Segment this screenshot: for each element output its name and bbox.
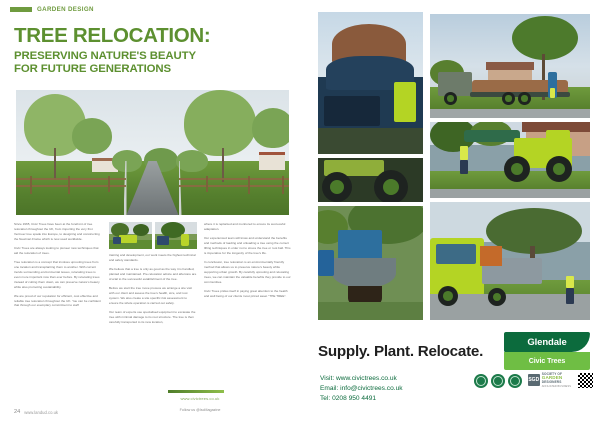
inline-photo-pair bbox=[109, 222, 197, 249]
paragraph: Our team of experts use specialised equi… bbox=[109, 310, 197, 325]
photo-truck-transporting-tree bbox=[430, 14, 590, 118]
photo-tree-spade-digging bbox=[318, 206, 423, 320]
magazine-spread: GARDEN DESIGN TREE RELOCATION: PRESERVIN… bbox=[0, 0, 600, 424]
hero-fence-post-2 bbox=[68, 176, 70, 194]
tagline: Supply. Plant. Relocate. bbox=[318, 343, 483, 360]
photo-4-wheel-front bbox=[504, 156, 530, 182]
paragraph: Before we start the tree move process we… bbox=[109, 286, 197, 306]
contact-details: Visit: www.civictrees.co.uk Email: info@… bbox=[320, 374, 403, 404]
paragraph: Civic Trees are always looking to pionee… bbox=[14, 246, 102, 256]
photo-2-tree-canopy bbox=[512, 16, 578, 60]
left-page-footer: 24 www.landud.co.uk bbox=[14, 409, 58, 415]
hero-fence-post-4 bbox=[206, 176, 208, 192]
right-page: Supply. Plant. Relocate. Glendale Civic … bbox=[306, 0, 600, 424]
photo-2-worker bbox=[550, 88, 555, 98]
inline-photo-1-cab bbox=[113, 237, 121, 244]
cert-badge-3-icon bbox=[508, 374, 522, 388]
photo-6-wheel-1 bbox=[438, 286, 458, 306]
headline-block: TREE RELOCATION: PRESERVING NATURE'S BEA… bbox=[14, 26, 294, 76]
hero-fence-post-3 bbox=[108, 176, 110, 192]
photo-2-wheel-1 bbox=[444, 92, 457, 105]
paragraph: We believe that a tree is only as good a… bbox=[109, 267, 197, 282]
headline-sub-line-2: FOR FUTURE GENERATIONS bbox=[14, 63, 294, 76]
logo-glendale-text: Glendale bbox=[504, 332, 590, 352]
hero-trunk-left bbox=[54, 148, 56, 180]
paragraph: Civic Trees prides itself in paying grea… bbox=[204, 289, 292, 299]
tagline-row: Supply. Plant. Relocate. Glendale Civic … bbox=[318, 330, 590, 372]
paragraph: Since 1965, Civic Trees have been at the… bbox=[14, 222, 102, 242]
photo-2-truck-cab bbox=[438, 72, 472, 96]
photo-1-lower-frame bbox=[324, 96, 380, 126]
mid-footer-url[interactable]: www.civictrees.co.uk bbox=[150, 396, 250, 401]
kicker-label: GARDEN DESIGN bbox=[37, 6, 94, 13]
article-columns: Since 1965, Civic Trees have been at the… bbox=[14, 222, 292, 397]
photo-3-tyre-left bbox=[322, 172, 352, 202]
hero-tree-large-right bbox=[184, 90, 256, 156]
photo-green-lorry-trailer bbox=[430, 202, 590, 320]
hero-fence-post-1 bbox=[30, 176, 32, 194]
article-column-3: where it is replanted and monitored to e… bbox=[204, 222, 292, 397]
paragraph: where it is replanted and monitored to e… bbox=[204, 222, 292, 232]
photo-6-worker-legs bbox=[566, 288, 574, 304]
hero-tree-mid-right bbox=[252, 108, 289, 148]
photo-tractor-wheels bbox=[318, 158, 423, 202]
paragraph: We are proud of our reputation for effic… bbox=[14, 294, 102, 309]
mid-footer-block: www.civictrees.co.uk Follow us @lscMagaz… bbox=[150, 390, 250, 412]
hero-tree-distant-1 bbox=[112, 150, 142, 172]
photo-4-wheel-rear bbox=[546, 156, 572, 182]
logo-civic-trees-text: Civic Trees bbox=[504, 352, 590, 370]
photo-2-road bbox=[430, 109, 590, 118]
qr-code-icon[interactable] bbox=[577, 372, 594, 389]
glendale-civic-trees-logo: Glendale Civic Trees bbox=[504, 332, 590, 370]
photo-tree-spade-blades bbox=[318, 12, 423, 154]
photo-4-path bbox=[430, 189, 590, 198]
hero-tree-mid-left bbox=[72, 118, 112, 154]
inline-photo-1 bbox=[109, 222, 152, 249]
headline-sub-line-1: PRESERVING NATURE'S BEAUTY bbox=[14, 50, 294, 63]
photo-5-ground bbox=[318, 302, 423, 320]
mid-footer-follow: Follow us @lscMagazine bbox=[150, 408, 250, 412]
photo-3-tyre-right bbox=[374, 170, 408, 202]
photo-1-foreground bbox=[318, 128, 423, 154]
hero-photo bbox=[16, 90, 289, 215]
photo-6-wheel-2 bbox=[488, 288, 506, 306]
contact-visit[interactable]: Visit: www.civictrees.co.uk bbox=[320, 374, 403, 384]
hero-fence-post-6 bbox=[282, 176, 284, 194]
photo-4-worker-legs bbox=[460, 160, 468, 174]
photo-6-load bbox=[480, 246, 502, 266]
hero-house-right bbox=[259, 152, 285, 170]
photo-4-loader-cab bbox=[546, 130, 570, 146]
paragraph: In conclusion, tree relocation is an env… bbox=[204, 260, 292, 285]
inline-photo-2-equipment bbox=[157, 236, 169, 245]
hero-fence-post-5 bbox=[248, 176, 250, 194]
inline-photo-2 bbox=[155, 222, 198, 249]
sgd-line-4: AFFILIATED BUSINESS bbox=[542, 386, 571, 389]
sgd-mark-icon: SGD bbox=[528, 374, 540, 386]
photo-5-machine-left bbox=[318, 250, 334, 276]
photo-6-worker-vest bbox=[566, 276, 574, 288]
photo-2-wheel-3 bbox=[518, 92, 531, 105]
paragraph: training and development, our work meets… bbox=[109, 253, 197, 263]
hero-fence-right-top bbox=[179, 178, 289, 180]
photo-6-windscreen bbox=[436, 244, 476, 264]
footer-url[interactable]: www.landud.co.uk bbox=[24, 410, 58, 415]
photo-2-roof bbox=[486, 62, 534, 70]
section-kicker: GARDEN DESIGN bbox=[10, 6, 94, 13]
photo-5-spade-cone bbox=[332, 258, 396, 288]
mid-footer-bar bbox=[168, 390, 224, 393]
cert-badge-1-icon bbox=[474, 374, 488, 388]
certification-badges: SGD SOCIETY OF GARDEN DESIGNERS AFFILIAT… bbox=[474, 372, 594, 389]
headline-main: TREE RELOCATION: bbox=[14, 26, 294, 47]
paragraph: Our experienced team will know and under… bbox=[204, 236, 292, 256]
article-column-2: training and development, our work meets… bbox=[109, 222, 197, 397]
article-column-1: Since 1965, Civic Trees have been at the… bbox=[14, 222, 102, 397]
photo-green-loader-lifting-tree bbox=[430, 122, 590, 198]
photo-4-crane-arm bbox=[464, 130, 520, 142]
paragraph: Tree relocation is a concept that involv… bbox=[14, 260, 102, 290]
inline-photo-1-machine bbox=[119, 235, 137, 243]
contact-tel[interactable]: Tel: 0208 950 4491 bbox=[320, 394, 403, 404]
sgd-logo: SGD SOCIETY OF GARDEN DESIGNERS AFFILIAT… bbox=[528, 373, 571, 389]
inline-photo-2-worker bbox=[181, 234, 189, 246]
sgd-text-block: SOCIETY OF GARDEN DESIGNERS AFFILIATED B… bbox=[542, 373, 571, 389]
hero-fence-right-bottom bbox=[179, 185, 289, 187]
left-page: GARDEN DESIGN TREE RELOCATION: PRESERVIN… bbox=[0, 0, 306, 424]
page-number: 24 bbox=[14, 409, 20, 415]
hero-trunk-right bbox=[222, 148, 224, 182]
photo-4-worker-vest bbox=[460, 146, 468, 160]
photo-2-wheel-2 bbox=[502, 92, 515, 105]
contact-email[interactable]: Email: info@civictrees.co.uk bbox=[320, 384, 403, 394]
photo-grid bbox=[318, 12, 590, 320]
kicker-bar-icon bbox=[10, 7, 32, 12]
cert-badge-2-icon bbox=[491, 374, 505, 388]
photo-1-yellow-part bbox=[394, 82, 416, 122]
